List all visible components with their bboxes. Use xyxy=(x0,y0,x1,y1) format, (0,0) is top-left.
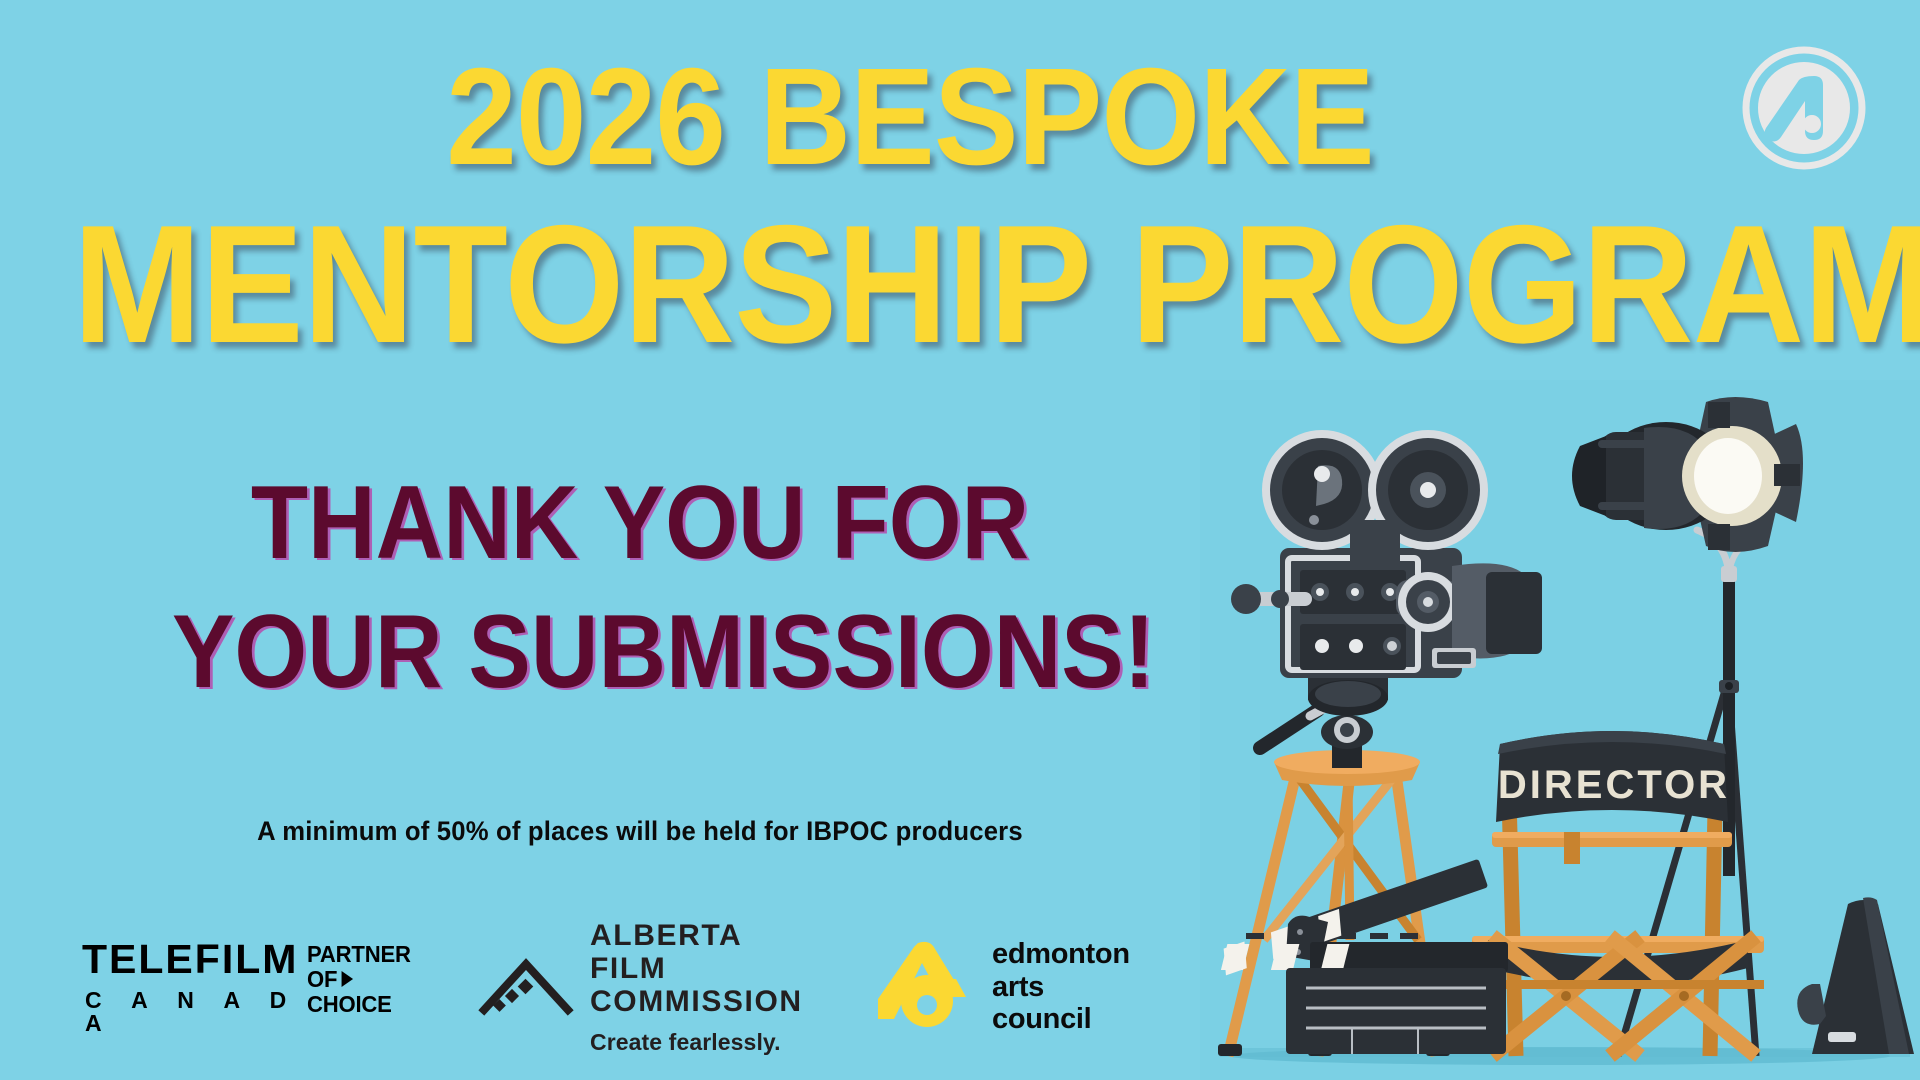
alberta-name-line-2: COMMISSION xyxy=(590,985,808,1018)
alberta-name-line-1: ALBERTA FILM xyxy=(590,919,808,985)
thank-you-heading: THANK YOU FOR YOUR SUBMISSIONS! xyxy=(120,470,1160,706)
play-triangle-icon xyxy=(342,971,354,987)
telefilm-wordmark: TELEFILM xyxy=(82,939,298,980)
thank-you-line-1: THANK YOU FOR xyxy=(172,470,1108,577)
mountain-chevron-icon xyxy=(478,954,574,1021)
alberta-tagline: Create fearlessly. xyxy=(590,1029,808,1056)
sponsor-logo-row: TELEFILM C A N A D A PARTNER OF CHOICE xyxy=(60,922,1200,1052)
poster-canvas: 2026 BESPOKE MENTORSHIP PROGRAM THANK YO… xyxy=(0,0,1920,1080)
eac-line-2: arts xyxy=(992,971,1130,1003)
telefilm-badge-line-1: PARTNER xyxy=(307,942,411,967)
eac-line-3: council xyxy=(992,1003,1130,1035)
edmonton-arts-council-wordmark: edmonton arts council xyxy=(992,938,1130,1035)
megaphone xyxy=(1797,897,1914,1054)
directors-chair: DIRECTOR xyxy=(1472,731,1764,1056)
ac-monogram-icon xyxy=(878,937,978,1038)
telefilm-country: C A N A D A xyxy=(82,989,298,1035)
sponsor-edmonton-arts-council: edmonton arts council xyxy=(878,937,1128,1038)
sponsor-alberta-film-commission: ALBERTA FILM COMMISSION Create fearlessl… xyxy=(478,919,808,1056)
clapperboard xyxy=(1200,859,1508,1054)
headline-line-2: MENTORSHIP PROGRAM xyxy=(73,205,1747,365)
headline-line-1: 2026 BESPOKE xyxy=(73,52,1747,183)
page-title: 2026 BESPOKE MENTORSHIP PROGRAM xyxy=(0,52,1820,365)
telefilm-badge-line-2: OF xyxy=(307,967,337,992)
sponsor-telefilm-canada: TELEFILM C A N A D A PARTNER OF CHOICE xyxy=(82,939,392,1035)
telefilm-partner-badge: PARTNER OF CHOICE xyxy=(307,939,411,1016)
telefilm-badge-line-3: CHOICE xyxy=(307,992,411,1017)
film-production-illustration: DIRECTOR xyxy=(1200,380,1920,1080)
vintage-film-camera xyxy=(1231,430,1542,768)
equity-note: A minimum of 50% of places will be held … xyxy=(146,816,1134,847)
studio-spotlight xyxy=(1572,397,1803,552)
thank-you-line-2: YOUR SUBMISSIONS! xyxy=(172,599,1108,706)
director-chair-label: DIRECTOR xyxy=(1498,763,1730,807)
eac-line-1: edmonton xyxy=(992,938,1130,970)
